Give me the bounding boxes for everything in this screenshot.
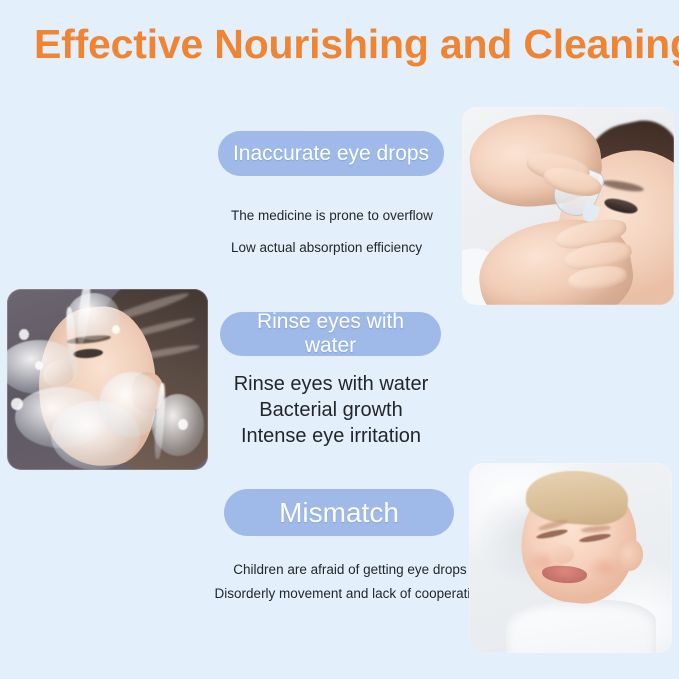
- photo-crying-child-cheek-right: [587, 556, 624, 579]
- section-1-line-2: Low actual absorption efficiency: [231, 232, 433, 264]
- photo-crying-child-body: [506, 600, 656, 653]
- photo-water-splash-drop-4: [112, 325, 120, 334]
- photo-water-splash-drop-1: [19, 329, 29, 340]
- page-title: Effective Nourishing and Cleaning: [34, 22, 649, 68]
- section-1-copy: The medicine is prone to overflow Low ac…: [231, 200, 433, 264]
- photo-water-splash-droplet-cluster-4: [67, 293, 119, 340]
- section-2-line-1: Rinse eyes with water: [221, 371, 441, 397]
- photo-crying-child: [469, 463, 672, 653]
- section-1-line-1: The medicine is prone to overflow: [231, 200, 433, 232]
- section-3-copy: Children are afraid of getting eye drops…: [205, 558, 495, 606]
- photo-water-splash: [7, 289, 208, 470]
- section-2-line-2: Bacterial growth: [221, 397, 441, 423]
- section-3-pill-mismatch: Mismatch: [224, 489, 454, 536]
- section-2-copy: Rinse eyes with water Bacterial growth I…: [221, 371, 441, 449]
- section-2-line-3: Intense eye irritation: [221, 423, 441, 449]
- section-3-line-2: Disorderly movement and lack of cooperat…: [205, 582, 495, 606]
- photo-eye-drops: [462, 107, 674, 305]
- section-1-pill-inaccurate-eye-drops: Inaccurate eye drops: [218, 131, 444, 176]
- photo-water-splash-drop-5: [178, 419, 188, 430]
- section-3-line-1: Children are afraid of getting eye drops: [205, 558, 495, 582]
- promo-poster: Effective Nourishing and Cleaning Inaccu…: [0, 0, 679, 679]
- section-2-pill-rinse-eyes-with-water: Rinse eyes with water: [220, 312, 441, 356]
